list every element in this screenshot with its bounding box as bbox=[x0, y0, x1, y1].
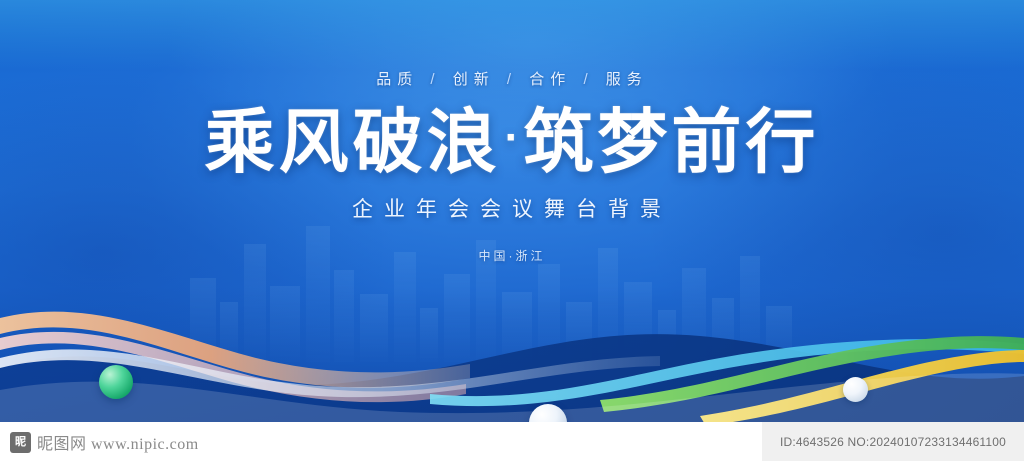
tagline-item-4: 服务 bbox=[606, 71, 648, 88]
poster-text-block: 品质 / 创新 / 合作 / 服务 乘风破浪·筑梦前行 企业年会会议舞台背景 中… bbox=[0, 0, 1024, 264]
image-id-label: ID:4643526 NO:20240107233134461100 bbox=[762, 422, 1024, 461]
poster-screenshot: 品质 / 创新 / 合作 / 服务 乘风破浪·筑梦前行 企业年会会议舞台背景 中… bbox=[0, 0, 1024, 461]
bottom-wave-decoration bbox=[0, 272, 1024, 422]
watermark-text: 昵图网 www.nipic.com bbox=[37, 430, 199, 454]
tagline-separator-1: / bbox=[430, 71, 440, 88]
white-sphere-large-decoration bbox=[529, 404, 567, 422]
tagline-item-1: 品质 bbox=[376, 71, 418, 88]
poster-canvas: 品质 / 创新 / 合作 / 服务 乘风破浪·筑梦前行 企业年会会议舞台背景 中… bbox=[0, 0, 1024, 422]
headline-dot: · bbox=[501, 113, 524, 162]
headline: 乘风破浪·筑梦前行 bbox=[0, 105, 1024, 179]
tagline-separator-3: / bbox=[583, 71, 593, 88]
subline: 企业年会会议舞台背景 bbox=[0, 193, 1024, 223]
watermark: 昵 昵图网 www.nipic.com bbox=[10, 430, 199, 454]
tagline: 品质 / 创新 / 合作 / 服务 bbox=[0, 68, 1024, 89]
tagline-item-2: 创新 bbox=[453, 71, 495, 88]
location-label: 中国·浙江 bbox=[0, 247, 1024, 264]
headline-left: 乘风破浪 bbox=[205, 103, 501, 181]
tagline-item-3: 合作 bbox=[529, 71, 571, 88]
nipic-logo-icon: 昵 bbox=[10, 432, 31, 453]
tagline-separator-2: / bbox=[507, 71, 517, 88]
white-sphere-small-decoration bbox=[843, 377, 868, 402]
footer-bar: 昵 昵图网 www.nipic.com ID:4643526 NO:202401… bbox=[0, 422, 1024, 461]
headline-right: 筑梦前行 bbox=[523, 103, 819, 181]
green-sphere-decoration bbox=[99, 365, 133, 399]
